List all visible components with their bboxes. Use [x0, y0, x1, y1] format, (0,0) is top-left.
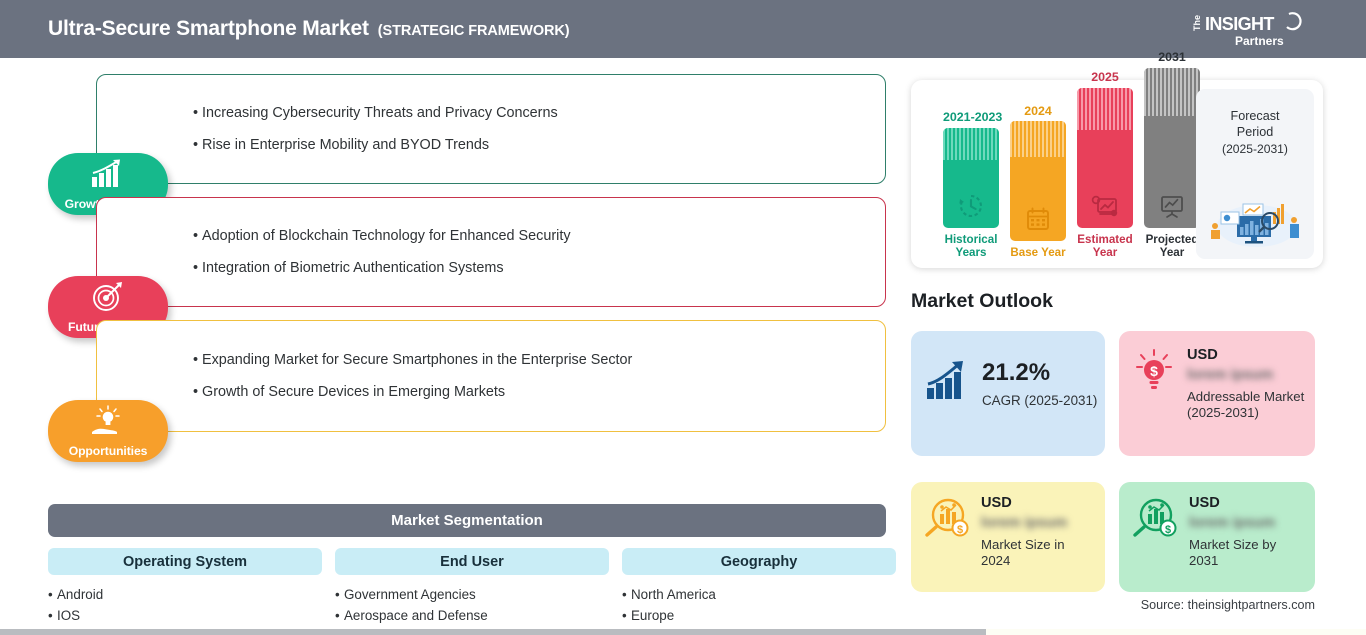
- bullet-dot: •: [622, 608, 631, 623]
- list-item: •Growth of Secure Devices in Emerging Ma…: [193, 384, 632, 401]
- outlook-card-market-size-2024: $ USD lorem ipsum Market Size in 2024: [911, 482, 1105, 592]
- opportunities-box: •Expanding Market for Secure Smartphones…: [96, 320, 886, 432]
- bullet-dot: •: [193, 228, 202, 245]
- market-size-2024-content: $ USD lorem ipsum Market Size in 2024: [923, 496, 1095, 569]
- segment-header: Geography: [622, 548, 896, 575]
- currency-label: USD: [1189, 496, 1305, 511]
- list-item: •Aerospace and Defense: [335, 608, 609, 623]
- bar-year-label: 2024: [1010, 105, 1066, 117]
- market-size-2031-text: USD lorem ipsum Market Size by 2031: [1189, 496, 1305, 569]
- list-item: •Android: [48, 587, 322, 602]
- bullet-dot: •: [335, 608, 344, 623]
- analytics-gear-icon: [1090, 193, 1120, 219]
- currency-label: USD: [981, 496, 1095, 511]
- forecast-title-line1: Forecast: [1196, 108, 1314, 124]
- bar-group-projected: 2031 Projected Year: [1144, 51, 1200, 260]
- target-dartboard-icon: [90, 281, 126, 313]
- outlook-card-addressable-market: $ USD lorem ipsum Addressable Market (20…: [1119, 331, 1315, 456]
- bar-stripe-top: [1010, 121, 1066, 157]
- bullet-dot: •: [48, 587, 57, 602]
- source-attribution: Source: theinsightpartners.com: [911, 598, 1315, 612]
- svg-text:$: $: [1150, 363, 1158, 379]
- list-item: •Integration of Biometric Authentication…: [193, 260, 571, 277]
- currency-label: USD: [1187, 348, 1305, 363]
- bar-caption: Base Year: [1010, 246, 1066, 260]
- cagr-value: 21.2%: [982, 361, 1097, 385]
- data-analysis-illustration: [1196, 192, 1314, 253]
- bar-year-label: 2025: [1077, 71, 1133, 83]
- card-label: Market Size in 2024: [981, 537, 1095, 570]
- page-header: Ultra-Secure Smartphone Market (STRATEGI…: [0, 0, 1366, 58]
- segment-list: •North America •Europe •Asia-Pacific: [622, 587, 896, 635]
- bar-caption: Projected Year: [1144, 233, 1200, 260]
- segment-item-text: North America: [631, 587, 716, 602]
- bar-estimated: [1077, 88, 1133, 228]
- bar-caption: Historical Years: [943, 233, 999, 260]
- list-item: •North America: [622, 587, 896, 602]
- bar-group-base: 2024: [1010, 105, 1066, 260]
- addressable-market-content: $ USD lorem ipsum Addressable Market (20…: [1131, 348, 1305, 421]
- value-redacted: lorem ipsum: [1187, 368, 1305, 384]
- growth-bar-chart-icon: [88, 158, 128, 190]
- page-title: Ultra-Secure Smartphone Market: [48, 17, 369, 41]
- forecast-period-range: (2025-2031): [1196, 142, 1314, 158]
- cagr-text: 21.2% CAGR (2025-2031): [982, 361, 1097, 408]
- bullet-text: Integration of Biometric Authentication …: [202, 260, 504, 276]
- bar-stripe-top: [943, 128, 999, 160]
- market-size-2031-content: $ USD lorem ipsum Market Size by 2031: [1131, 496, 1305, 569]
- future-trends-box: •Adoption of Blockchain Technology for E…: [96, 197, 886, 307]
- segment-header: End User: [335, 548, 609, 575]
- segmentation-column-geography: Geography •North America •Europe •Asia-P…: [622, 548, 896, 635]
- footer-strip: [0, 629, 1366, 635]
- bar-caption: Estimated Year: [1077, 233, 1133, 260]
- bullet-text: Increasing Cybersecurity Threats and Pri…: [202, 105, 558, 121]
- market-size-2024-text: USD lorem ipsum Market Size in 2024: [981, 496, 1095, 569]
- svg-text:$: $: [1165, 524, 1171, 536]
- magnifier-bars-dollar-icon: $: [923, 496, 971, 542]
- bullet-dot: •: [48, 608, 57, 623]
- insight-partners-logo: The INSIGHT Partners: [1188, 9, 1308, 51]
- growth-drivers-box: •Increasing Cybersecurity Threats and Pr…: [96, 74, 886, 184]
- clock-history-icon: [958, 193, 984, 219]
- segment-item-text: IOS: [57, 608, 80, 623]
- outlook-card-market-size-2031: $ USD lorem ipsum Market Size by 2031: [1119, 482, 1315, 592]
- bullet-dot: •: [193, 260, 202, 277]
- bar-historical: [943, 128, 999, 228]
- header-title-group: Ultra-Secure Smartphone Market (STRATEGI…: [48, 17, 570, 41]
- card-label: Addressable Market (2025-2031): [1187, 389, 1305, 422]
- segment-item-text: Aerospace and Defense: [344, 608, 488, 623]
- badge-opportunities[interactable]: Opportunities: [48, 400, 168, 462]
- bullet-text: Adoption of Blockchain Technology for En…: [202, 228, 571, 244]
- market-outlook-title: Market Outlook: [911, 290, 1053, 313]
- svg-text:Partners: Partners: [1235, 34, 1284, 48]
- future-trends-bullets: •Adoption of Blockchain Technology for E…: [193, 198, 571, 306]
- bullet-text: Rise in Enterprise Mobility and BYOD Tre…: [202, 137, 489, 153]
- cagr-label: CAGR (2025-2031): [982, 393, 1097, 408]
- segment-list: •Government Agencies •Aerospace and Defe…: [335, 587, 609, 635]
- bullet-dot: •: [193, 137, 202, 154]
- segment-item-text: Europe: [631, 608, 674, 623]
- page-subtitle: (STRATEGIC FRAMEWORK): [378, 23, 570, 39]
- svg-text:The: The: [1192, 15, 1202, 31]
- bar-stripe-top: [1077, 88, 1133, 130]
- market-timeline-chart: 2021-2023 Historical Years 2024: [911, 80, 1323, 268]
- segment-header: Operating System: [48, 548, 322, 575]
- card-label: Market Size by 2031: [1189, 537, 1305, 570]
- svg-text:INSIGHT: INSIGHT: [1205, 14, 1274, 34]
- calendar-icon: [1025, 206, 1051, 232]
- svg-text:$: $: [957, 524, 963, 536]
- infographic-page: Ultra-Secure Smartphone Market (STRATEGI…: [0, 0, 1366, 635]
- right-column: 2021-2023 Historical Years 2024: [900, 58, 1366, 635]
- bar-group-estimated: 2025 Estimated Year: [1077, 71, 1133, 260]
- forecast-title-line2: Period: [1196, 124, 1314, 140]
- left-column: •Increasing Cybersecurity Threats and Pr…: [0, 58, 900, 635]
- list-item: •IOS: [48, 608, 322, 623]
- addressable-market-text: USD lorem ipsum Addressable Market (2025…: [1187, 348, 1305, 421]
- list-item: •Rise in Enterprise Mobility and BYOD Tr…: [193, 137, 558, 154]
- timeline-bars: 2021-2023 Historical Years 2024: [928, 80, 1188, 268]
- opportunities-bullets: •Expanding Market for Secure Smartphones…: [193, 321, 632, 431]
- bullet-dot: •: [193, 105, 202, 122]
- bullet-text: Growth of Secure Devices in Emerging Mar…: [202, 384, 505, 400]
- list-item: •Adoption of Blockchain Technology for E…: [193, 228, 571, 245]
- outlook-card-cagr: 21.2% CAGR (2025-2031): [911, 331, 1105, 456]
- bullet-dot: •: [622, 587, 631, 602]
- badge-label: Opportunities: [69, 445, 148, 457]
- growth-chart-arrow-icon: [925, 361, 971, 403]
- presentation-chart-icon: [1158, 193, 1186, 219]
- bullet-text: Expanding Market for Secure Smartphones …: [202, 352, 632, 368]
- bullet-dot: •: [193, 384, 202, 401]
- list-item: •Europe: [622, 608, 896, 623]
- cagr-content: 21.2% CAGR (2025-2031): [925, 361, 1097, 408]
- value-redacted: lorem ipsum: [981, 516, 1095, 532]
- segment-item-text: Government Agencies: [344, 587, 476, 602]
- segmentation-column-end-user: End User •Government Agencies •Aerospace…: [335, 548, 609, 635]
- lightbulb-dollar-icon: $: [1131, 348, 1177, 398]
- list-item: •Increasing Cybersecurity Threats and Pr…: [193, 105, 558, 122]
- list-item: •Government Agencies: [335, 587, 609, 602]
- lightbulb-hand-icon: [86, 405, 130, 439]
- growth-drivers-bullets: •Increasing Cybersecurity Threats and Pr…: [193, 75, 558, 183]
- bar-projected: [1144, 68, 1200, 228]
- list-item: •Expanding Market for Secure Smartphones…: [193, 352, 632, 369]
- segmentation-column-operating-system: Operating System •Android •IOS: [48, 548, 322, 624]
- value-redacted: lorem ipsum: [1189, 516, 1305, 532]
- bullet-dot: •: [193, 352, 202, 369]
- market-segmentation-banner: Market Segmentation: [48, 504, 886, 537]
- segment-list: •Android •IOS: [48, 587, 322, 624]
- segment-item-text: Android: [57, 587, 103, 602]
- bar-year-label: 2021-2023: [943, 111, 999, 123]
- footer-strip-light-segment: [986, 629, 1366, 635]
- bar-stripe-top: [1144, 68, 1200, 116]
- bullet-dot: •: [335, 587, 344, 602]
- bar-base: [1010, 121, 1066, 241]
- bar-year-label: 2031: [1144, 51, 1200, 63]
- magnifier-bars-dollar-icon: $: [1131, 496, 1179, 542]
- bar-group-historical: 2021-2023 Historical Years: [943, 111, 999, 260]
- forecast-period-panel: Forecast Period (2025-2031): [1196, 89, 1314, 259]
